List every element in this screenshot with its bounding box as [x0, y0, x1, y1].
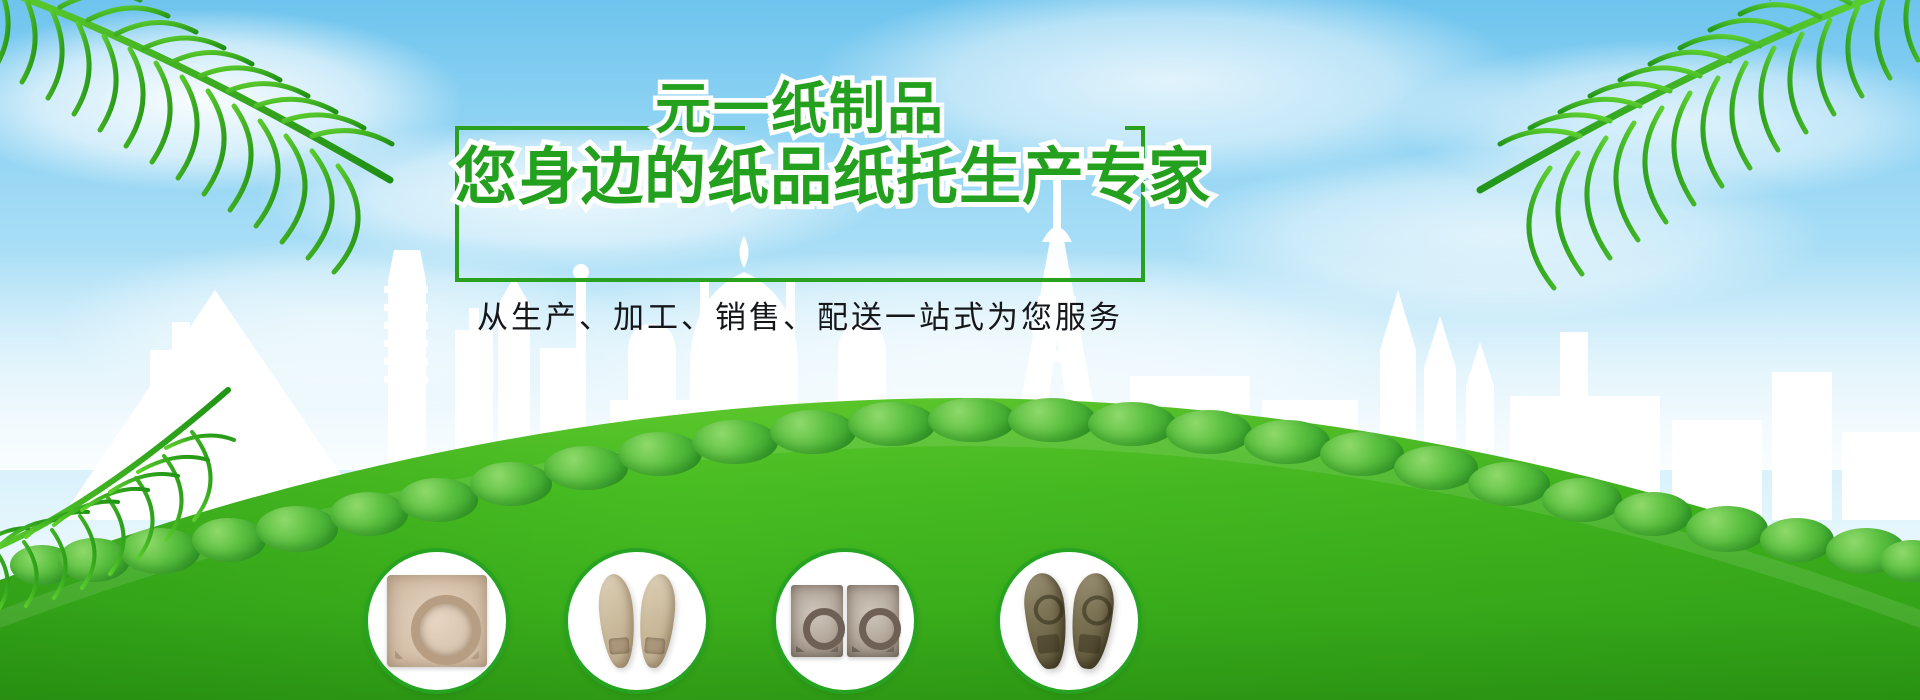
- headline-text-group: 元一纸制品 您身边的纸品纸托生产专家: [455, 80, 1145, 212]
- shoe-pulp-insert-right-icon: [636, 573, 678, 670]
- grey-pulp-tray-right-icon: [847, 585, 899, 657]
- product-photo-3: [791, 571, 899, 671]
- product-circle-grey-pulp-tray-pair[interactable]: [772, 548, 918, 694]
- product-photo-4: [1015, 571, 1123, 671]
- green-hill: [0, 280, 1920, 700]
- square-pulp-tray-icon: [387, 575, 487, 667]
- cloud-4: [1180, 150, 1820, 320]
- palm-frond-top-right-icon: [1450, 0, 1920, 300]
- product-circle-square-pulp-tray[interactable]: [364, 548, 510, 694]
- subtitle-text: 从生产、加工、销售、配送一站式为您服务: [455, 292, 1145, 337]
- promo-banner: 元一纸制品 您身边的纸品纸托生产专家 从生产、加工、销售、配送一站式为您服务: [0, 0, 1920, 700]
- frame-line-bottom: [455, 278, 1145, 282]
- palm-frond-top-left-icon: [0, 0, 420, 300]
- headline-frame: 元一纸制品 您身边的纸品纸托生产专家: [455, 88, 1145, 228]
- brand-title: 元一纸制品: [455, 80, 1145, 140]
- product-circle-shoe-pulp-insert[interactable]: [564, 548, 710, 694]
- product-photo-2: [583, 571, 691, 671]
- dark-shoe-pulp-insert-right-icon: [1067, 571, 1117, 671]
- product-circle-dark-shoe-pulp-insert[interactable]: [996, 548, 1142, 694]
- headline-slogan: 您身边的纸品纸托生产专家: [455, 142, 1145, 211]
- shoe-pulp-insert-left-icon: [596, 573, 638, 670]
- palm-frond-bottom-left-icon: [0, 330, 240, 630]
- grey-pulp-tray-left-icon: [791, 585, 843, 657]
- cloud-1: [0, 10, 460, 190]
- product-circle-row: [0, 440, 1920, 700]
- dark-shoe-pulp-insert-left-icon: [1021, 571, 1071, 671]
- cloud-6: [1400, 40, 1920, 200]
- product-photo-1: [383, 571, 491, 671]
